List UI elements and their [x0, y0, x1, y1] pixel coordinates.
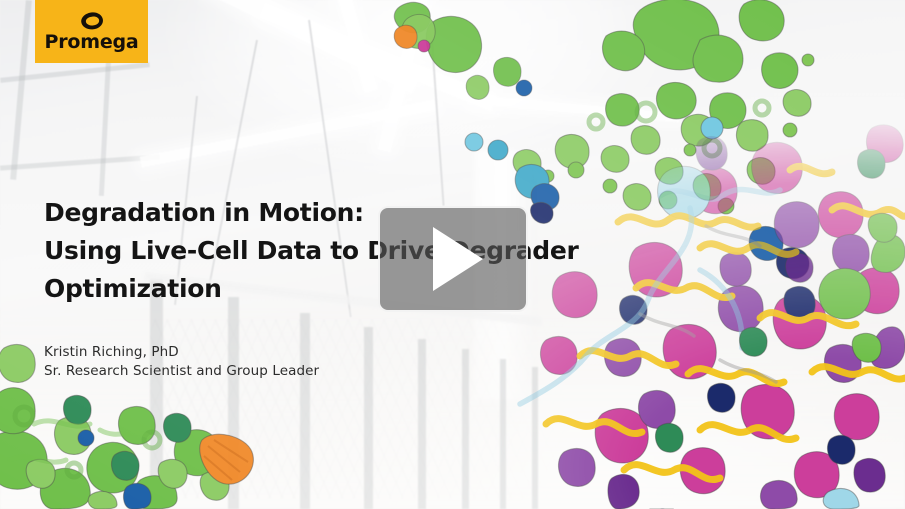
promega-wordmark: Promega	[44, 33, 138, 52]
presenter-info: Kristin Riching, PhD Sr. Research Scient…	[44, 343, 604, 381]
presenter-role: Sr. Research Scientist and Group Leader	[44, 362, 604, 381]
presenter-name: Kristin Riching, PhD	[44, 343, 604, 362]
video-player[interactable]: Promega Degradation in Motion: Using Liv…	[0, 0, 905, 509]
play-icon	[433, 227, 483, 291]
play-button[interactable]	[378, 206, 528, 312]
promega-logo[interactable]: Promega	[35, 0, 148, 63]
promega-ring-mark	[79, 11, 105, 31]
